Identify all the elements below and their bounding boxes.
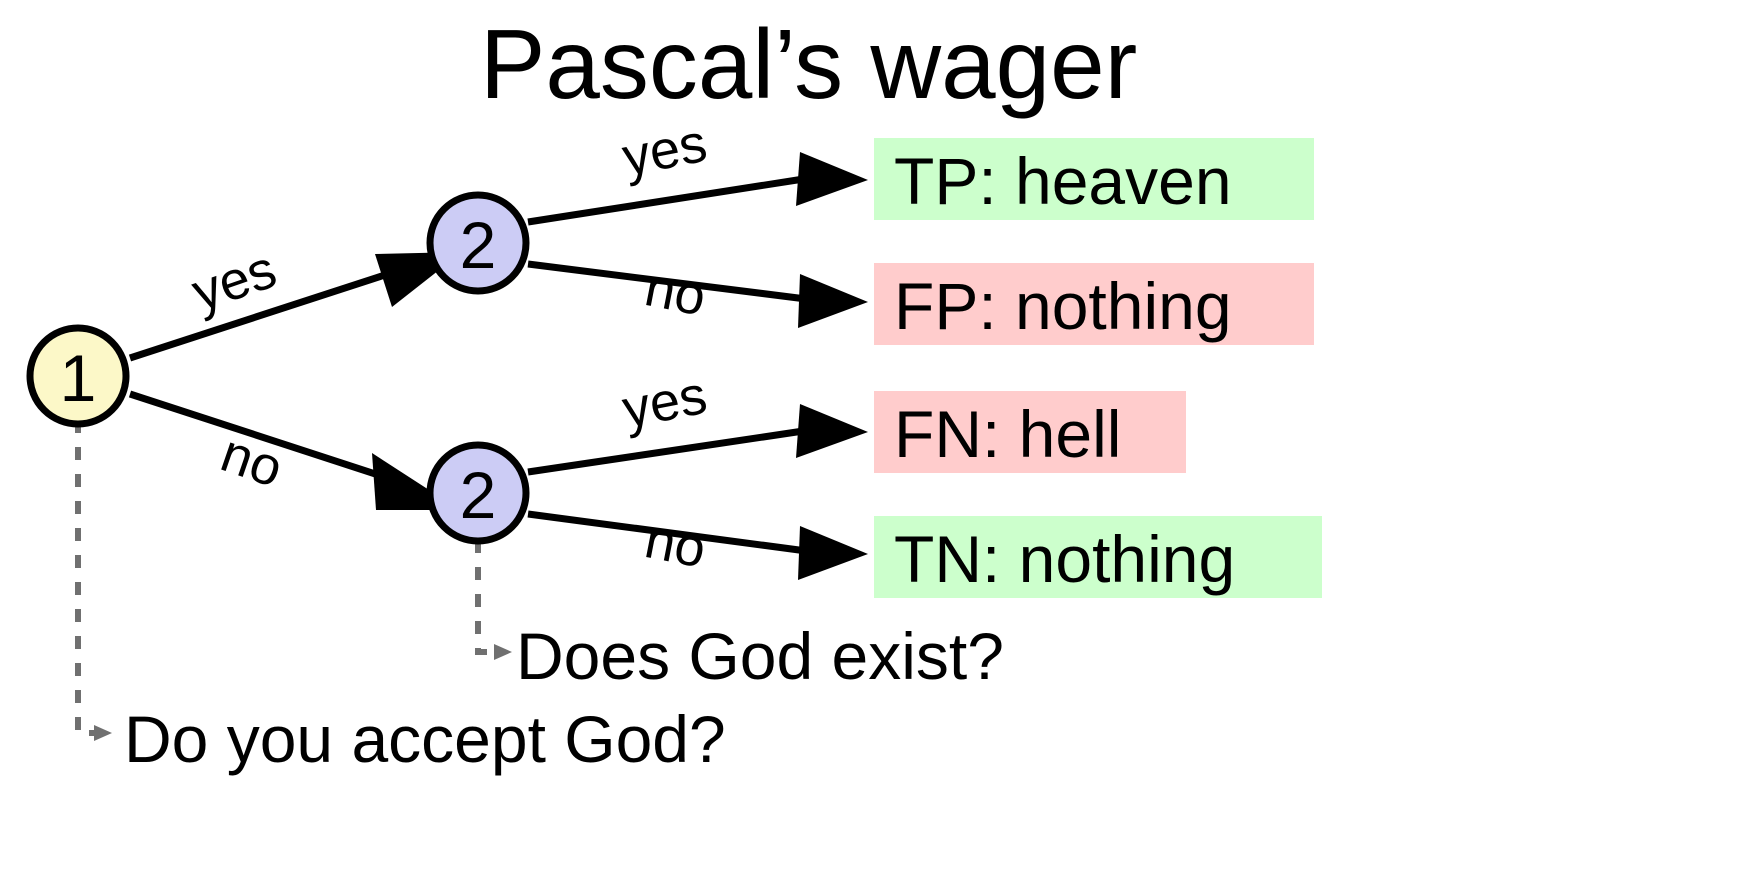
node-root-label: 1: [60, 341, 97, 415]
edge-n2a-yes-arrowhead: [796, 152, 868, 206]
edge-n2a-yes: yes: [528, 113, 868, 222]
leader-node2-path: [478, 540, 496, 652]
edge-n2b-yes-arrowhead: [796, 404, 868, 458]
outcome-fp[interactable]: FP: nothing: [874, 263, 1314, 345]
edge-n2a-no: no: [528, 257, 868, 328]
node-root[interactable]: 1: [30, 328, 126, 424]
edge-label-n2a-yes: yes: [618, 113, 712, 188]
leader-node2-arrowhead: [494, 644, 512, 660]
outcome-tp-label: TP: heaven: [894, 144, 1232, 218]
leader-node1-arrowhead: [94, 725, 112, 741]
edge-label-n2b-yes: yes: [618, 365, 712, 440]
outcome-fp-label: FP: nothing: [894, 269, 1232, 343]
edge-n2a-yes-line: [528, 178, 810, 222]
leader-node2-caption: [478, 540, 512, 660]
pascals-wager-diagram: Pascal’s wager yes no yes no: [0, 0, 1760, 880]
leader-node1-caption: [78, 420, 112, 741]
outcome-fn-label: FN: hell: [894, 397, 1121, 471]
edge-label-root-no: no: [214, 423, 290, 499]
node-decision-upper-label: 2: [460, 208, 497, 282]
page-title: Pascal’s wager: [480, 9, 1137, 119]
edge-n2b-no-arrowhead: [798, 526, 868, 580]
edge-n2b-no: no: [528, 509, 868, 580]
edge-n2b-yes: yes: [528, 365, 868, 472]
node-decision-upper[interactable]: 2: [430, 195, 526, 291]
outcome-tn[interactable]: TN: nothing: [874, 516, 1322, 598]
caption-does-god-exist: Does God exist?: [516, 619, 1004, 693]
node-decision-lower[interactable]: 2: [430, 445, 526, 541]
edge-n2b-yes-line: [528, 430, 810, 472]
node-decision-lower-label: 2: [460, 458, 497, 532]
edge-n2a-no-arrowhead: [798, 274, 868, 328]
caption-do-you-accept-god: Do you accept God?: [124, 702, 726, 776]
decision-tree-canvas: Pascal’s wager yes no yes no: [0, 0, 1760, 880]
outcome-fn[interactable]: FN: hell: [874, 391, 1186, 473]
edge-root-yes: yes: [130, 239, 462, 358]
leader-node1-path: [78, 420, 96, 733]
edge-root-no: no: [130, 394, 460, 510]
outcome-tn-label: TN: nothing: [894, 522, 1235, 596]
edge-label-n2a-no: no: [640, 257, 710, 327]
edge-label-n2b-no: no: [640, 509, 710, 579]
outcome-tp[interactable]: TP: heaven: [874, 138, 1314, 220]
